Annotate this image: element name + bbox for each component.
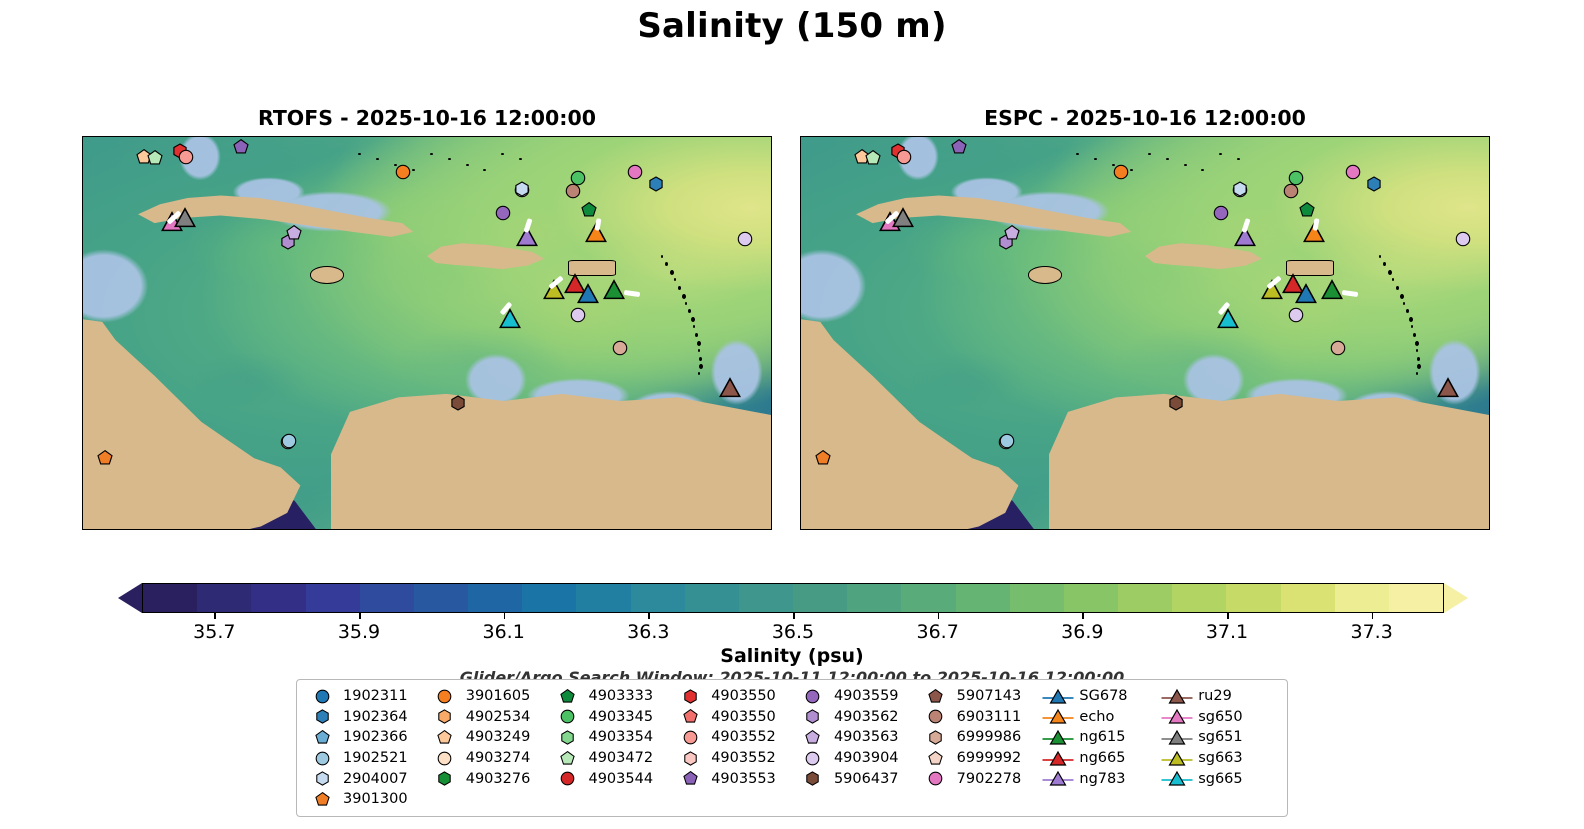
argo-marker-icon bbox=[428, 709, 462, 724]
legend-item-7902278[interactable]: 7902278 bbox=[919, 768, 1042, 789]
map-marker-5906437[interactable] bbox=[450, 395, 466, 411]
x-tick-minor bbox=[227, 529, 229, 530]
x-tick-minor bbox=[671, 529, 673, 530]
x-tick-minor bbox=[856, 529, 858, 530]
legend-item-4903550[interactable]: 4903550 bbox=[673, 707, 796, 728]
argo-marker-icon bbox=[305, 751, 339, 766]
y-tick bbox=[82, 238, 83, 240]
x-tick-minor bbox=[1278, 529, 1280, 530]
map-marker-4903552[interactable] bbox=[178, 149, 194, 165]
y-tick bbox=[82, 350, 83, 352]
y-tick-minor bbox=[82, 193, 83, 195]
map-marker-4903904b[interactable] bbox=[1455, 231, 1471, 247]
argo-marker-icon bbox=[919, 751, 953, 766]
colorbar-extend-low bbox=[118, 583, 142, 613]
legend-item-3901605[interactable]: 3901605 bbox=[428, 686, 551, 707]
colorbar-tick bbox=[504, 613, 506, 619]
colorbar-tick bbox=[214, 613, 216, 619]
map-rtofs[interactable]: 85°W80°W75°W70°W65°W60°W20°N15°N10°N bbox=[82, 136, 772, 530]
x-tick-minor bbox=[1478, 529, 1480, 530]
map-marker-ru29[interactable] bbox=[1437, 377, 1459, 399]
x-tick-minor bbox=[1345, 529, 1347, 530]
legend-column: SG678echong615ng665ng783 bbox=[1041, 686, 1160, 810]
legend-item-label: SG678 bbox=[1075, 688, 1127, 704]
legend-item-4903544[interactable]: 4903544 bbox=[550, 768, 673, 789]
legend-item-label: 5907143 bbox=[953, 688, 1022, 704]
y-tick-minor bbox=[1489, 484, 1490, 486]
x-tick-minor bbox=[405, 529, 407, 530]
glider-marker-icon bbox=[1041, 770, 1075, 787]
colorbar-segment bbox=[847, 584, 901, 612]
x-tick-minor bbox=[967, 529, 969, 530]
x-tick-minor bbox=[183, 529, 185, 530]
x-tick-minor bbox=[1234, 529, 1236, 530]
map-marker-3901605[interactable] bbox=[1113, 164, 1129, 180]
x-tick-minor bbox=[945, 529, 947, 530]
island-dot bbox=[674, 278, 676, 281]
x-tick-minor bbox=[1300, 529, 1302, 530]
legend-item-4903552[interactable]: 4903552 bbox=[673, 727, 796, 748]
x-tick-minor bbox=[1189, 529, 1191, 530]
island-dot bbox=[394, 164, 397, 166]
argo-marker-icon bbox=[428, 751, 462, 766]
legend-item-1902521[interactable]: 1902521 bbox=[305, 748, 428, 769]
legend-item-label: 4903563 bbox=[830, 729, 899, 745]
y-tick-minor bbox=[82, 484, 83, 486]
argo-marker-icon bbox=[796, 689, 830, 704]
map-marker-4903552[interactable] bbox=[896, 149, 912, 165]
island-dot bbox=[1403, 302, 1405, 305]
y-tick-minor bbox=[82, 417, 83, 419]
colorbar-segment bbox=[956, 584, 1010, 612]
argo-marker-icon bbox=[919, 709, 953, 724]
legend-item-6903111[interactable]: 6903111 bbox=[919, 707, 1042, 728]
legend-item-2904007[interactable]: 2904007 bbox=[305, 768, 428, 789]
map-marker-1902364[interactable] bbox=[1366, 176, 1382, 192]
x-tick-minor bbox=[538, 529, 540, 530]
x-tick-minor bbox=[923, 529, 925, 530]
map-marker-4903904c[interactable] bbox=[570, 307, 586, 323]
legend-item-label: 4903345 bbox=[584, 709, 653, 725]
legend-item-label: sg650 bbox=[1194, 709, 1242, 725]
legend-item-label: 6999992 bbox=[953, 750, 1022, 766]
legend-item-4903274[interactable]: 4903274 bbox=[428, 748, 551, 769]
island-dot bbox=[678, 286, 681, 290]
x-tick-minor bbox=[294, 529, 296, 530]
colorbar-segment bbox=[197, 584, 251, 612]
y-tick-minor bbox=[1489, 417, 1490, 419]
colorbar-tick-label: 36.9 bbox=[1061, 621, 1103, 643]
legend-item-label: 4903274 bbox=[462, 750, 531, 766]
x-tick bbox=[879, 529, 881, 530]
colorbar-segment bbox=[251, 584, 305, 612]
colorbar-segment bbox=[793, 584, 847, 612]
x-tick-minor bbox=[449, 529, 451, 530]
argo-marker-icon bbox=[550, 689, 584, 704]
x-tick-minor bbox=[205, 529, 207, 530]
panel-rtofs: RTOFS - 2025-10-16 12:00:00 85°W80°W75°W… bbox=[82, 136, 772, 530]
argo-marker-icon bbox=[305, 689, 339, 704]
legend-item-sg650[interactable]: sg650 bbox=[1160, 707, 1279, 728]
legend-item-sg665[interactable]: sg665 bbox=[1160, 768, 1279, 789]
colorbar-segment bbox=[522, 584, 576, 612]
legend-item-ng615[interactable]: ng615 bbox=[1041, 727, 1160, 748]
map-marker-2904007[interactable] bbox=[514, 181, 530, 197]
glider-marker-icon bbox=[1041, 750, 1075, 767]
colorbar-segment bbox=[1335, 584, 1389, 612]
legend-item-1902366[interactable]: 1902366 bbox=[305, 727, 428, 748]
x-tick-minor bbox=[901, 529, 903, 530]
map-marker-3901300[interactable] bbox=[97, 450, 113, 466]
colorbar-gradient bbox=[142, 583, 1444, 613]
map-marker-4903553[interactable] bbox=[951, 139, 967, 155]
map-marker-4903333[interactable] bbox=[1299, 202, 1315, 218]
legend-item-1902364[interactable]: 1902364 bbox=[305, 707, 428, 728]
argo-marker-icon bbox=[305, 730, 339, 745]
x-tick-minor bbox=[1145, 529, 1147, 530]
legend-item-sg651[interactable]: sg651 bbox=[1160, 727, 1279, 748]
legend-item-ng783[interactable]: ng783 bbox=[1041, 768, 1160, 789]
panel-espc: ESPC - 2025-10-16 12:00:00 85°W80°W75°W7… bbox=[800, 136, 1490, 530]
legend-item-label: 4903552 bbox=[707, 729, 776, 745]
island-dot bbox=[682, 294, 686, 299]
map-marker-5906437[interactable] bbox=[1168, 395, 1184, 411]
legend-item-label: ng615 bbox=[1075, 729, 1125, 745]
island-dot bbox=[697, 341, 701, 346]
island-dot bbox=[466, 164, 469, 166]
map-marker-SG678[interactable] bbox=[1295, 283, 1317, 305]
y-tick-minor bbox=[1489, 260, 1490, 262]
legend-item-label: 4903472 bbox=[584, 750, 653, 766]
legend-item-label: 1902311 bbox=[339, 688, 408, 704]
argo-marker-icon bbox=[673, 730, 707, 745]
argo-marker-icon bbox=[796, 751, 830, 766]
y-tick-minor bbox=[82, 148, 83, 150]
island-dot bbox=[699, 357, 702, 361]
x-tick-minor bbox=[94, 529, 96, 530]
island-dot bbox=[1076, 153, 1079, 155]
island-dot bbox=[430, 153, 433, 155]
island-dot bbox=[1416, 349, 1418, 352]
legend-item-label: echo bbox=[1075, 709, 1114, 725]
map-marker-1902364[interactable] bbox=[648, 176, 664, 192]
x-tick-minor bbox=[1456, 529, 1458, 530]
colorbar-tick-label: 36.7 bbox=[917, 621, 959, 643]
y-tick-minor bbox=[82, 529, 83, 530]
argo-marker-icon bbox=[673, 709, 707, 724]
y-tick-minor bbox=[1489, 439, 1490, 441]
x-tick-minor bbox=[1167, 529, 1169, 530]
glider-marker-icon bbox=[1160, 750, 1194, 767]
colorbar-tick-label: 36.5 bbox=[772, 621, 814, 643]
legend-item-label: 4903544 bbox=[584, 771, 653, 787]
colorbar-segment bbox=[1389, 584, 1443, 612]
argo-marker-icon bbox=[796, 709, 830, 724]
x-tick-minor bbox=[1367, 529, 1369, 530]
island-dot bbox=[685, 302, 687, 305]
legend-item-4903345[interactable]: 4903345 bbox=[550, 707, 673, 728]
argo-marker-icon bbox=[673, 751, 707, 766]
legend-column: ru29sg650sg651sg663sg665 bbox=[1160, 686, 1279, 810]
legend-item-label: 4903550 bbox=[707, 709, 776, 725]
x-tick-minor bbox=[1078, 529, 1080, 530]
x-tick bbox=[1434, 529, 1436, 530]
legend-item-echo[interactable]: echo bbox=[1041, 707, 1160, 728]
y-tick bbox=[1489, 238, 1490, 240]
x-tick-minor bbox=[1123, 529, 1125, 530]
legend-item-4903552[interactable]: 4903552 bbox=[673, 748, 796, 769]
argo-marker-icon bbox=[550, 771, 584, 786]
colorbar-segment bbox=[1226, 584, 1280, 612]
legend-item-6999986[interactable]: 6999986 bbox=[919, 727, 1042, 748]
y-tick-minor bbox=[1489, 305, 1490, 307]
map-marker-6999986[interactable] bbox=[1330, 340, 1346, 356]
colorbar-segment bbox=[1010, 584, 1064, 612]
y-tick-minor bbox=[82, 507, 83, 509]
island-dot bbox=[1396, 286, 1399, 290]
x-tick bbox=[494, 529, 496, 530]
y-tick-minor bbox=[82, 171, 83, 173]
legend-item-label: 4903904 bbox=[830, 750, 899, 766]
y-tick-minor bbox=[82, 439, 83, 441]
legend-item-5906437[interactable]: 5906437 bbox=[796, 768, 919, 789]
x-tick bbox=[1101, 529, 1103, 530]
x-tick-minor bbox=[760, 529, 762, 530]
legend-item-4903553[interactable]: 4903553 bbox=[673, 768, 796, 789]
y-tick bbox=[82, 462, 83, 464]
x-tick-minor bbox=[693, 529, 695, 530]
x-tick bbox=[990, 529, 992, 530]
glider-marker-icon bbox=[1160, 708, 1194, 725]
x-tick-minor bbox=[338, 529, 340, 530]
legend-item-3901300[interactable]: 3901300 bbox=[305, 789, 428, 810]
x-tick-minor bbox=[1389, 529, 1391, 530]
y-tick-minor bbox=[82, 215, 83, 217]
legend-item-label: 6903111 bbox=[953, 709, 1022, 725]
map-marker-4903904c[interactable] bbox=[1288, 307, 1304, 323]
x-tick-minor bbox=[1034, 529, 1036, 530]
colorbar-segment bbox=[1172, 584, 1226, 612]
map-marker-ng615[interactable] bbox=[1321, 279, 1343, 301]
map-marker-4903553[interactable] bbox=[233, 139, 249, 155]
island-dot bbox=[1388, 270, 1392, 275]
colorbar-tick bbox=[1082, 613, 1084, 619]
legend-box[interactable]: 1902311190236419023661902521290400739013… bbox=[296, 679, 1288, 817]
x-tick bbox=[383, 529, 385, 530]
legend-item-4902534[interactable]: 4902534 bbox=[428, 707, 551, 728]
y-tick-minor bbox=[82, 260, 83, 262]
map-marker-6999986[interactable] bbox=[612, 340, 628, 356]
legend-item-SG678[interactable]: SG678 bbox=[1041, 686, 1160, 707]
map-marker-7902278[interactable] bbox=[1345, 164, 1361, 180]
legend-item-4903550[interactable]: 4903550 bbox=[673, 686, 796, 707]
colorbar-tick-label: 35.9 bbox=[338, 621, 380, 643]
page-title: Salinity (150 m) bbox=[0, 6, 1584, 46]
x-tick bbox=[716, 529, 718, 530]
legend-item-label: 1902364 bbox=[339, 709, 408, 725]
y-tick bbox=[1489, 462, 1490, 464]
island-dot bbox=[1415, 341, 1419, 346]
legend-item-label: 5906437 bbox=[830, 771, 899, 787]
argo-marker-icon bbox=[796, 730, 830, 745]
colorbar-tick bbox=[359, 613, 361, 619]
argo-marker-icon bbox=[919, 689, 953, 704]
map-marker-1902521[interactable] bbox=[281, 433, 297, 449]
colorbar: 35.735.936.136.336.536.736.937.137.3 bbox=[118, 583, 1468, 613]
figure-canvas: Salinity (150 m) RTOFS - 2025-10-16 12:0… bbox=[0, 0, 1584, 829]
legend-column: 49035504903550490355249035524903553 bbox=[673, 686, 796, 810]
map-marker-4903472[interactable] bbox=[147, 150, 163, 166]
island-dot bbox=[501, 153, 504, 155]
colorbar-segment bbox=[739, 584, 793, 612]
colorbar-tick bbox=[1372, 613, 1374, 619]
glider-marker-icon bbox=[1160, 770, 1194, 787]
y-tick-minor bbox=[1489, 171, 1490, 173]
colorbar-extend-high bbox=[1444, 583, 1468, 613]
legend-grid: 1902311190236419023661902521290400739013… bbox=[305, 686, 1279, 810]
island-dot bbox=[1219, 153, 1222, 155]
legend-item-4903333[interactable]: 4903333 bbox=[550, 686, 673, 707]
island-dot bbox=[1379, 255, 1381, 258]
legend-item-label: sg651 bbox=[1194, 729, 1242, 745]
map-marker-4903472[interactable] bbox=[865, 150, 881, 166]
map-marker-4903904b[interactable] bbox=[737, 231, 753, 247]
argo-marker-icon bbox=[305, 792, 339, 807]
map-marker-1902521[interactable] bbox=[999, 433, 1015, 449]
legend-item-4903559[interactable]: 4903559 bbox=[796, 686, 919, 707]
colorbar-tick bbox=[648, 613, 650, 619]
y-tick bbox=[1489, 350, 1490, 352]
colorbar-label: Salinity (psu) bbox=[0, 645, 1584, 667]
legend-item-4903904[interactable]: 4903904 bbox=[796, 748, 919, 769]
argo-marker-icon bbox=[673, 771, 707, 786]
legend-item-label: ng665 bbox=[1075, 750, 1125, 766]
legend-item-4903472[interactable]: 4903472 bbox=[550, 748, 673, 769]
legend-item-ng665[interactable]: ng665 bbox=[1041, 748, 1160, 769]
map-marker-6903111[interactable] bbox=[1283, 183, 1299, 199]
x-tick-minor bbox=[249, 529, 251, 530]
x-tick-minor bbox=[1411, 529, 1413, 530]
colorbar-segment bbox=[901, 584, 955, 612]
y-tick-minor bbox=[1489, 507, 1490, 509]
island-dot bbox=[1148, 153, 1151, 155]
argo-marker-icon bbox=[428, 771, 462, 786]
map-marker-ng615[interactable] bbox=[603, 279, 625, 301]
map-marker-4903563[interactable] bbox=[286, 225, 302, 241]
legend-item-6999992[interactable]: 6999992 bbox=[919, 748, 1042, 769]
legend-item-label: ru29 bbox=[1194, 688, 1232, 704]
colorbar-tick bbox=[938, 613, 940, 619]
map-marker-2904007[interactable] bbox=[1232, 181, 1248, 197]
x-tick bbox=[1212, 529, 1214, 530]
legend-column: 49033334903345490335449034724903544 bbox=[550, 686, 673, 810]
legend-column: 1902311190236419023661902521290400739013… bbox=[305, 686, 428, 810]
y-tick-minor bbox=[82, 305, 83, 307]
legend-item-label: 4903333 bbox=[584, 688, 653, 704]
x-tick-minor bbox=[812, 529, 814, 530]
panel-title-espc: ESPC - 2025-10-16 12:00:00 bbox=[800, 106, 1490, 130]
map-marker-3901300[interactable] bbox=[815, 450, 831, 466]
map-marker-4903333[interactable] bbox=[581, 202, 597, 218]
map-espc[interactable]: 85°W80°W75°W70°W65°W60°W20°N15°N10°N bbox=[800, 136, 1490, 530]
landmass-jamaica bbox=[310, 266, 344, 283]
legend-item-4903563[interactable]: 4903563 bbox=[796, 727, 919, 748]
legend-item-label: 4903276 bbox=[462, 771, 531, 787]
island-dot bbox=[698, 349, 700, 352]
legend-column: 59071436903111699998669999927902278 bbox=[919, 686, 1042, 810]
y-tick-minor bbox=[82, 395, 83, 397]
y-tick-minor bbox=[1489, 193, 1490, 195]
legend-item-4903249[interactable]: 4903249 bbox=[428, 727, 551, 748]
legend-item-label: 1902521 bbox=[339, 750, 408, 766]
map-marker-ru29[interactable] bbox=[719, 377, 741, 399]
island-dot bbox=[448, 158, 451, 160]
legend-item-4903562[interactable]: 4903562 bbox=[796, 707, 919, 728]
legend-item-label: 4903559 bbox=[830, 688, 899, 704]
legend-item-label: 4902534 bbox=[462, 709, 531, 725]
legend-item-label: 6999986 bbox=[953, 729, 1022, 745]
legend-item-5907143[interactable]: 5907143 bbox=[919, 686, 1042, 707]
colorbar-segment bbox=[685, 584, 739, 612]
argo-marker-icon bbox=[428, 689, 462, 704]
legend-item-4903276[interactable]: 4903276 bbox=[428, 768, 551, 789]
argo-marker-icon bbox=[305, 709, 339, 724]
legend-item-label: 3901300 bbox=[339, 791, 408, 807]
x-tick-minor bbox=[471, 529, 473, 530]
map-marker-3901605[interactable] bbox=[395, 164, 411, 180]
map-marker-4903559[interactable] bbox=[495, 205, 511, 221]
legend-item-4903354[interactable]: 4903354 bbox=[550, 727, 673, 748]
x-tick bbox=[605, 529, 607, 530]
map-marker-6903111[interactable] bbox=[565, 183, 581, 199]
legend-item-1902311[interactable]: 1902311 bbox=[305, 686, 428, 707]
y-tick-minor bbox=[82, 372, 83, 374]
map-marker-4903559[interactable] bbox=[1213, 205, 1229, 221]
glider-marker-icon bbox=[1041, 688, 1075, 705]
x-tick-minor bbox=[1256, 529, 1258, 530]
landmass-jamaica bbox=[1028, 266, 1062, 283]
x-tick-minor bbox=[560, 529, 562, 530]
legend-item-label: 2904007 bbox=[339, 771, 408, 787]
glider-marker-icon bbox=[1160, 688, 1194, 705]
x-tick-minor bbox=[516, 529, 518, 530]
legend-item-label: ng783 bbox=[1075, 771, 1125, 787]
argo-marker-icon bbox=[305, 771, 339, 786]
colorbar-segment bbox=[1064, 584, 1118, 612]
legend-item-label: sg663 bbox=[1194, 750, 1242, 766]
x-tick-minor bbox=[116, 529, 118, 530]
legend-item-label: sg665 bbox=[1194, 771, 1242, 787]
x-tick-minor bbox=[649, 529, 651, 530]
y-tick-minor bbox=[82, 327, 83, 329]
island-dot bbox=[1392, 278, 1394, 281]
legend-item-label: 1902366 bbox=[339, 729, 408, 745]
colorbar-segment bbox=[468, 584, 522, 612]
colorbar-segment bbox=[1118, 584, 1172, 612]
map-marker-SG678[interactable] bbox=[577, 283, 599, 305]
island-dot bbox=[358, 153, 361, 155]
island-dot bbox=[670, 270, 674, 275]
legend-item-sg663[interactable]: sg663 bbox=[1160, 748, 1279, 769]
glider-marker-icon bbox=[1041, 729, 1075, 746]
colorbar-segment bbox=[631, 584, 685, 612]
island-dot bbox=[661, 255, 663, 258]
legend-item-ru29[interactable]: ru29 bbox=[1160, 686, 1279, 707]
map-marker-4903563[interactable] bbox=[1004, 225, 1020, 241]
argo-marker-icon bbox=[673, 689, 707, 704]
colorbar-segment bbox=[143, 584, 197, 612]
map-marker-7902278[interactable] bbox=[627, 164, 643, 180]
